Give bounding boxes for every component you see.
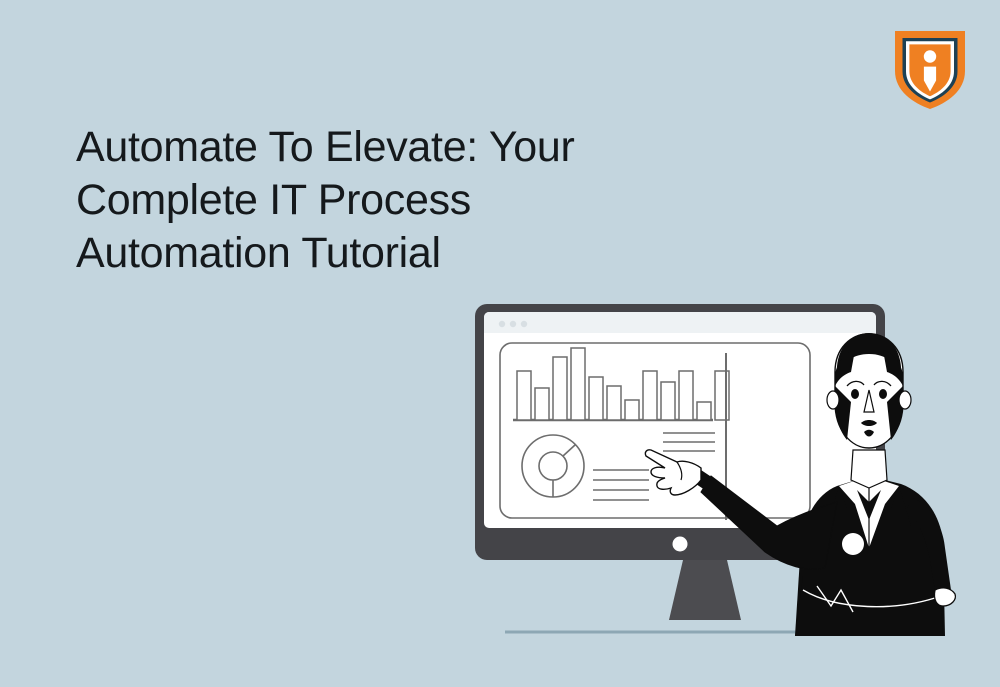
bar-4: [571, 348, 585, 420]
shield-logo[interactable]: i: [893, 27, 967, 111]
browser-chrome-bar: [484, 312, 876, 333]
person-resting-hand: [934, 588, 955, 606]
window-dot-1: [499, 321, 505, 327]
bar-7: [625, 400, 639, 420]
bar-10: [679, 371, 693, 420]
monitor-power-button: [673, 537, 688, 552]
person-eye-right: [879, 389, 887, 399]
bar-1: [517, 371, 531, 420]
monitor-stand: [669, 560, 741, 620]
dashboard-donut-chart: [522, 435, 584, 497]
bar-3: [553, 357, 567, 420]
window-dot-3: [521, 321, 527, 327]
donut-inner-hole: [539, 452, 567, 480]
person-ear-right: [899, 391, 911, 409]
bar-5: [589, 377, 603, 420]
bar-9: [661, 382, 675, 420]
window-dot-2: [510, 321, 516, 327]
logo-letter-dot: [924, 50, 936, 62]
poster-canvas: Automate To Elevate: Your Complete IT Pr…: [0, 0, 1000, 687]
hero-illustration: [465, 290, 985, 650]
person-neck: [851, 450, 887, 488]
bar-8: [643, 371, 657, 420]
bar-11: [697, 402, 711, 420]
person-badge: [842, 533, 864, 555]
logo-letter-label: i: [967, 27, 968, 28]
person-ear-left: [827, 391, 839, 409]
page-title: Automate To Elevate: Your Complete IT Pr…: [76, 121, 636, 280]
person-eye-left: [851, 389, 859, 399]
bar-6: [607, 386, 621, 420]
bar-2: [535, 388, 549, 420]
